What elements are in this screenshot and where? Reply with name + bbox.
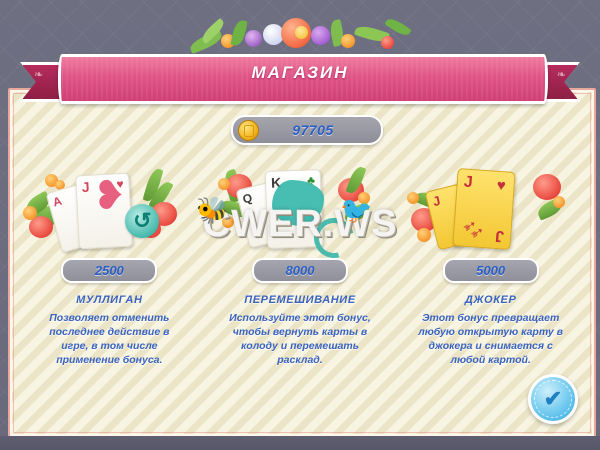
item-title: ПЕРЕМЕШИВАНИЕ xyxy=(210,294,390,306)
item-description: Используйте этот бонус, чтобы вернуть ка… xyxy=(225,311,375,367)
card-suit-icon: ♥ xyxy=(496,178,506,194)
item-price[interactable]: 8000 xyxy=(252,258,348,283)
item-artwork-mulligan: A J ♥ ❥ ↺ xyxy=(19,158,199,254)
shop-screen: ❧ ❧ МАГАЗИН 97705 A xyxy=(0,0,600,450)
shop-item-shuffle[interactable]: Q K ♣ 8000 ПЕРЕМЕШИВАНИЕ Используйте это… xyxy=(210,158,390,367)
card-rank-label-inverted: J xyxy=(494,227,504,244)
page-title: МАГАЗИН xyxy=(20,63,580,83)
shop-items: A J ♥ ❥ ↺ 2500 МУЛЛИГАН Позволяет отмени… xyxy=(14,158,586,368)
item-description: Позволяет отменить последнее действие в … xyxy=(34,311,184,367)
check-icon: ✔ xyxy=(544,388,562,410)
item-price[interactable]: 2500 xyxy=(61,258,157,283)
ribbon: ❧ ❧ МАГАЗИН xyxy=(20,54,580,94)
item-artwork-joker: J J ♥ J ➳ ➳ xyxy=(401,158,581,254)
currency-display: 97705 xyxy=(231,115,383,145)
card-rank-label: Q xyxy=(241,192,253,206)
currency-amount: 97705 xyxy=(259,122,381,138)
item-title: МУЛЛИГАН xyxy=(19,294,199,306)
shop-item-mulligan[interactable]: A J ♥ ❥ ↺ 2500 МУЛЛИГАН Позволяет отмени… xyxy=(19,158,199,367)
card-rank-label: A xyxy=(52,195,64,209)
confirm-button[interactable]: ✔ xyxy=(528,374,578,424)
header-banner: ❧ ❧ МАГАЗИН xyxy=(0,14,600,100)
watermark-figure-left: 🐝 xyxy=(196,195,228,226)
card-rank-label: J xyxy=(463,175,473,192)
item-description: Этот бонус превращает любую открытую кар… xyxy=(416,311,566,367)
bottom-bar xyxy=(0,436,600,450)
card-rank-label: J xyxy=(431,194,441,208)
item-price[interactable]: 5000 xyxy=(443,258,539,283)
shop-item-joker[interactable]: J J ♥ J ➳ ➳ 5000 ДЖОКЕР Этот бонус превр… xyxy=(401,158,581,367)
item-title: ДЖОКЕР xyxy=(401,294,581,306)
card-jack-front: J ♥ J ➳ ➳ xyxy=(452,168,515,250)
cupid-icon: ❥ xyxy=(89,176,129,234)
watermark-figure-right: 🐦 xyxy=(340,195,372,226)
coin-icon xyxy=(238,120,259,141)
